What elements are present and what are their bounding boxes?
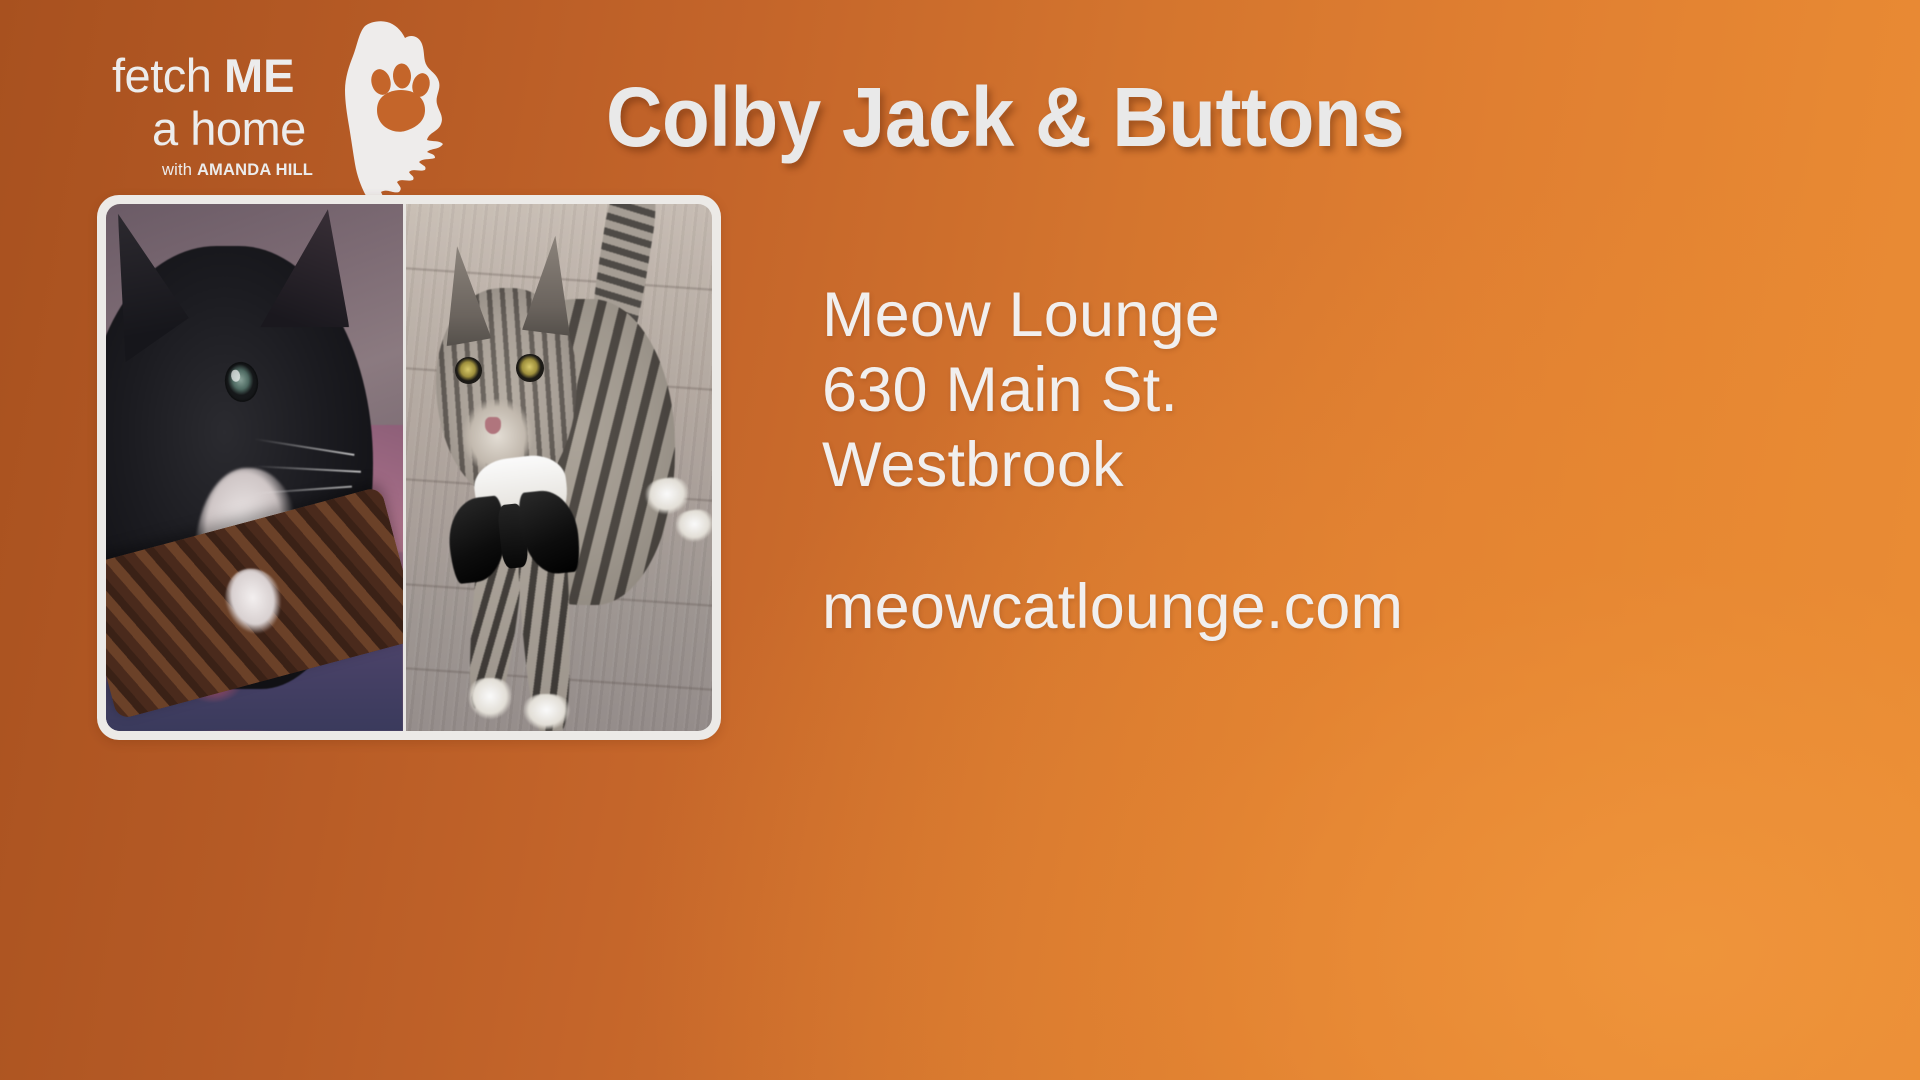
- venue-street: 630 Main St.: [822, 353, 1802, 428]
- logo-text-with: with: [162, 161, 197, 179]
- venue-name: Meow Lounge: [822, 278, 1802, 353]
- venue-city: Westbrook: [822, 428, 1802, 503]
- venue-website[interactable]: meowcatlounge.com: [822, 571, 1802, 643]
- photo-collage: [106, 204, 712, 731]
- fetch-me-a-home-logo: fetch ME a home with AMANDA HILL: [112, 18, 442, 198]
- logo-wordmark: fetch ME a home with AMANDA HILL: [112, 52, 337, 179]
- logo-text-host-name: AMANDA HILL: [197, 161, 313, 179]
- maine-state-outline-with-paw-print-icon: [307, 18, 447, 208]
- adoption-promo-slide: fetch ME a home with AMANDA HILL Colby J…: [0, 0, 1920, 1080]
- logo-text-me: ME: [224, 49, 295, 102]
- photo-collage-frame: [97, 195, 721, 740]
- logo-line-fetch-me: fetch ME: [112, 52, 337, 99]
- cat-photo-colby-jack: [106, 204, 403, 731]
- venue-info-block: Meow Lounge 630 Main St. Westbrook meowc…: [822, 278, 1802, 643]
- cat-photo-buttons: [403, 204, 712, 731]
- page-title: Colby Jack & Buttons: [606, 73, 1787, 162]
- logo-text-fetch: fetch: [112, 49, 224, 102]
